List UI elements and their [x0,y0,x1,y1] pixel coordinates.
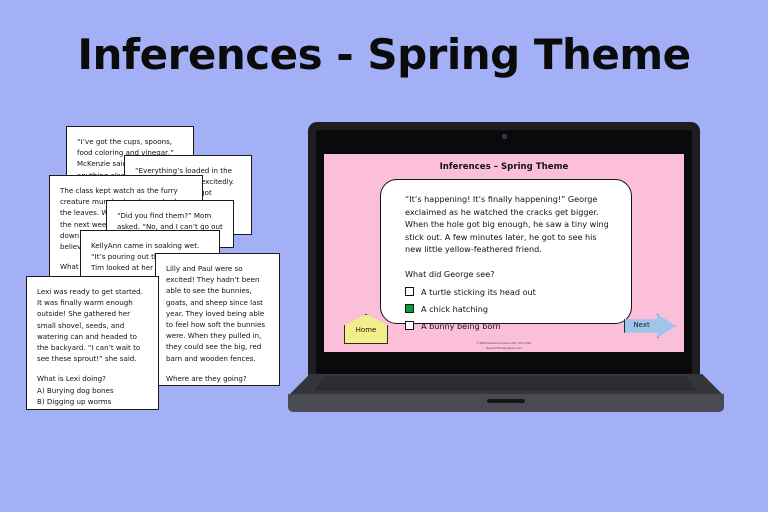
copyright-line-2: SpeechTherapyIdeas.com [324,346,684,350]
story-card-question: Where are they going? [166,373,270,384]
comprehension-question: What did George see? [405,268,609,281]
slide-title: Inferences – Spring Theme [324,162,684,172]
story-card-text: Lilly and Paul were so excited! They had… [166,263,270,364]
story-card-text: Lexi was ready to get started. It was fi… [37,286,149,364]
answer-choice-3[interactable]: A bunny being born [405,320,609,332]
answer-choice-2[interactable]: A chick hatching [405,303,609,315]
checkbox-icon[interactable] [405,321,414,330]
answer-choice-label: A bunny being born [421,320,501,332]
answer-choice-label: A turtle sticking its head out [421,286,536,298]
story-card-question: What is Lexi doing? [37,373,149,384]
story-card-lexi[interactable]: Lexi was ready to get started. It was fi… [26,276,159,410]
laptop-lid: Inferences – Spring Theme “It’s happenin… [308,122,700,380]
laptop-base-front [288,394,724,412]
laptop-screen: Inferences – Spring Theme “It’s happenin… [324,154,684,352]
laptop-bezel: Inferences – Spring Theme “It’s happenin… [316,130,692,374]
answer-choice-label: A chick hatching [421,303,488,315]
webcam-icon [502,134,507,139]
checkbox-icon[interactable] [405,287,414,296]
story-card-option: A) On a hayride [166,384,270,386]
story-card-option: C) Planting flowers [37,407,149,410]
laptop-keyboard-deck [314,376,698,391]
checkbox-checked-icon[interactable] [405,304,414,313]
laptop-front-notch [487,399,525,403]
home-button[interactable]: Home [344,314,388,344]
story-card-lilly-paul[interactable]: Lilly and Paul were so excited! They had… [155,253,280,386]
next-button[interactable]: Next [624,314,676,338]
slide-content-card: “It’s happening! It’s finally happening!… [380,179,632,324]
worksheet-card-stack: “I’ve got the cups, spoons, food colorin… [0,0,310,512]
copyright-notice: © 2024 Rebecca Vianca, MS, CCC-SLP Speec… [324,341,684,350]
laptop-mockup: Inferences – Spring Theme “It’s happenin… [288,122,724,422]
answer-choice-1[interactable]: A turtle sticking its head out [405,286,609,298]
home-button-label: Home [344,326,388,334]
story-card-option: B) Digging up worms [37,396,149,407]
story-passage: “It’s happening! It’s finally happening!… [405,193,609,256]
story-card-option: A) Burying dog bones [37,385,149,396]
next-button-label: Next [626,321,657,329]
